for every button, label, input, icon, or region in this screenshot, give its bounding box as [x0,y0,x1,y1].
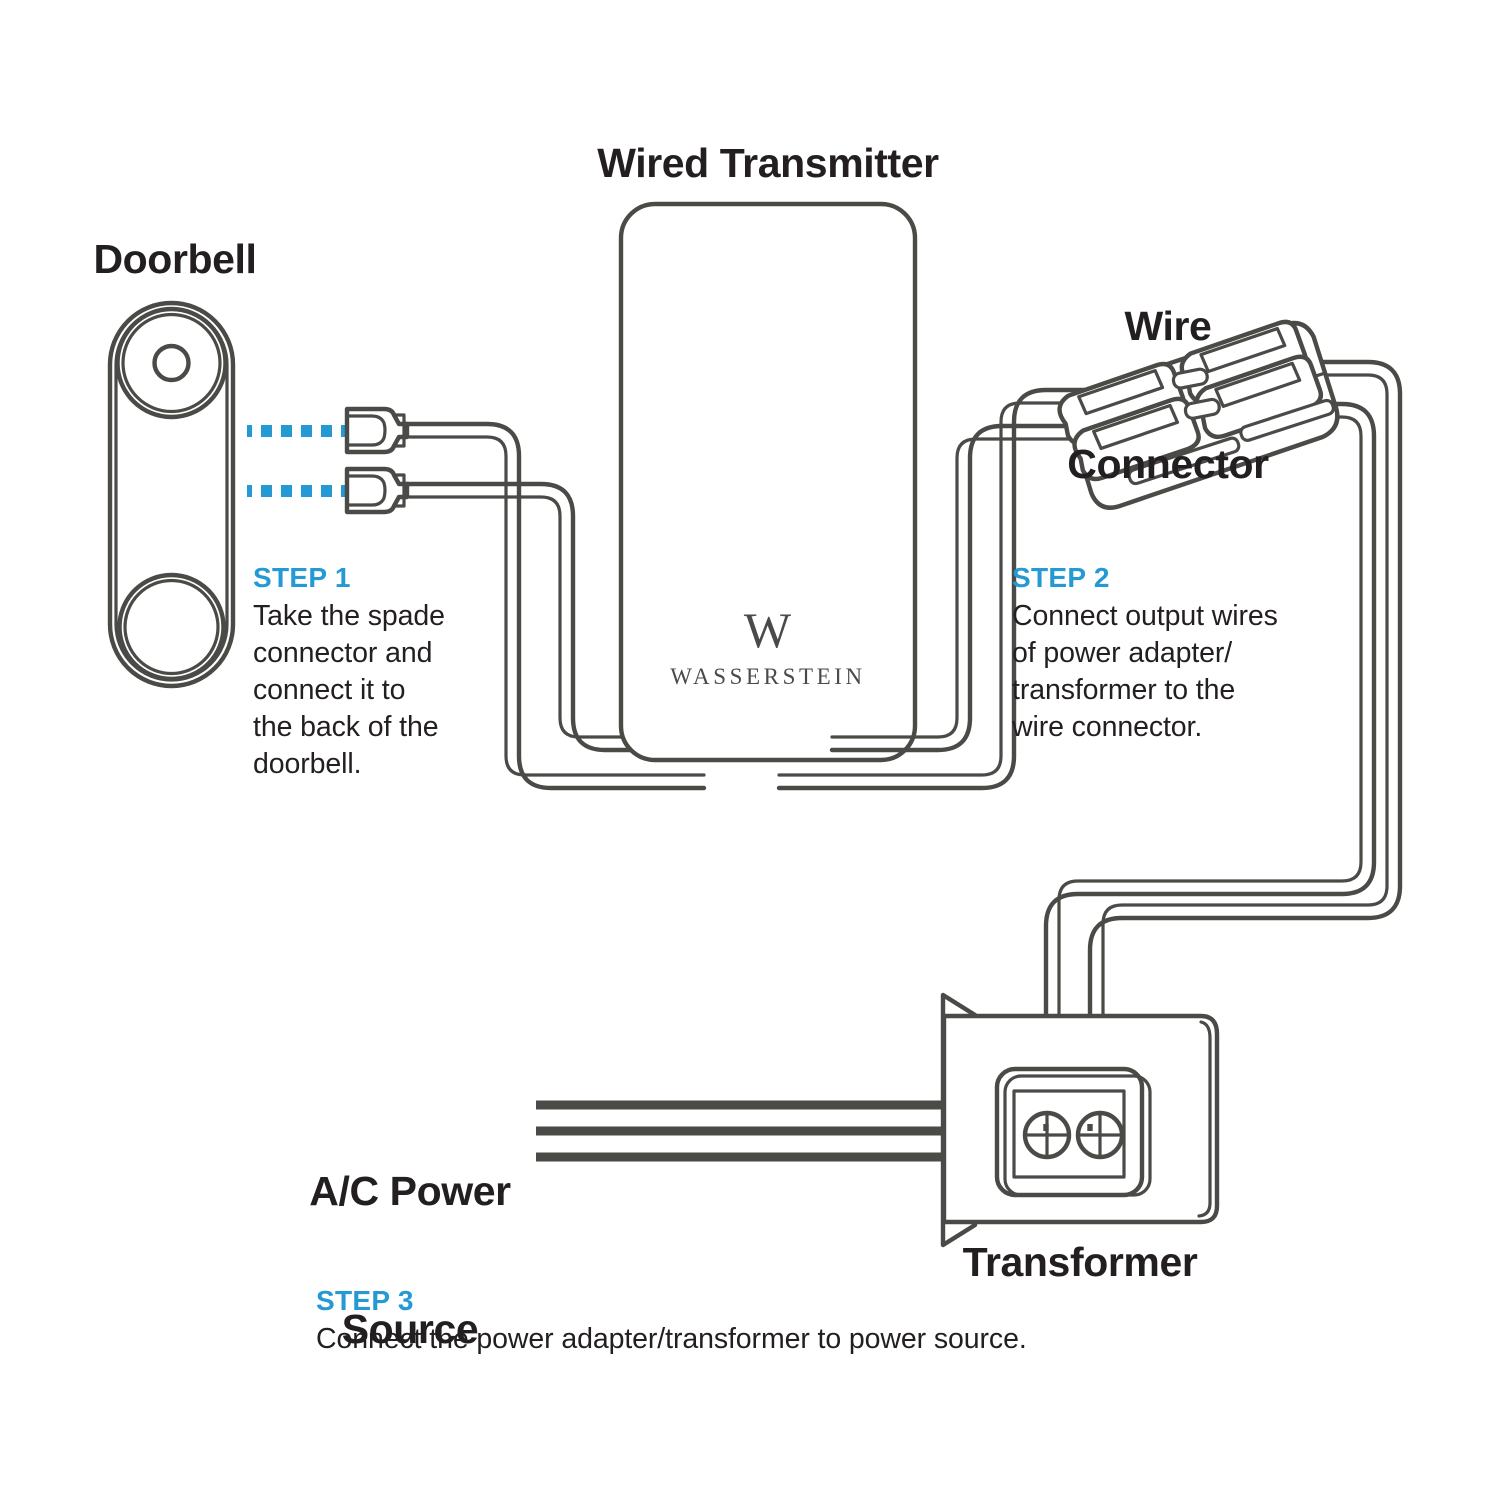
label-wire-connector: Wire Connector [1008,212,1328,579]
spade-connector-top [347,409,407,452]
step-3-body: Connect the power adapter/transformer to… [316,1321,1216,1358]
label-ac-power-line1: A/C Power [260,1169,560,1215]
label-ac-power-source: A/C Power Source [260,1077,560,1444]
step-1-title: STEP 1 [253,562,503,594]
label-doorbell: Doorbell [60,237,290,283]
step-2-block: STEP 2 Connect output wires of power ada… [1012,562,1352,746]
label-wire-connector-line1: Wire [1008,304,1328,350]
ac-power-cable [536,1105,945,1157]
label-wired-transmitter: Wired Transmitter [508,141,1028,187]
spade-connector-bottom [347,469,407,512]
label-wire-connector-line2: Connector [1008,442,1328,488]
wasserstein-wordmark: WASSERSTEIN [621,664,915,690]
step-2-body: Connect output wires of power adapter/ t… [1012,598,1352,746]
transformer-device [943,995,1217,1245]
label-transformer: Transformer [930,1240,1230,1286]
step-1-block: STEP 1 Take the spade connector and conn… [253,562,503,783]
doorbell-device [110,303,233,686]
step-2-title: STEP 2 [1012,562,1352,594]
step-1-body: Take the spade connector and connect it … [253,598,503,783]
step-3-title: STEP 3 [316,1285,1216,1317]
wasserstein-monogram: W [621,605,915,655]
step-3-block: STEP 3 Connect the power adapter/transfo… [316,1285,1216,1358]
wasserstein-logo: W WASSERSTEIN [621,605,915,690]
wiring-diagram: .ln { fill:none; stroke:#4a4a47; stroke-… [0,0,1498,1498]
connection-indicator-dots [247,425,346,497]
